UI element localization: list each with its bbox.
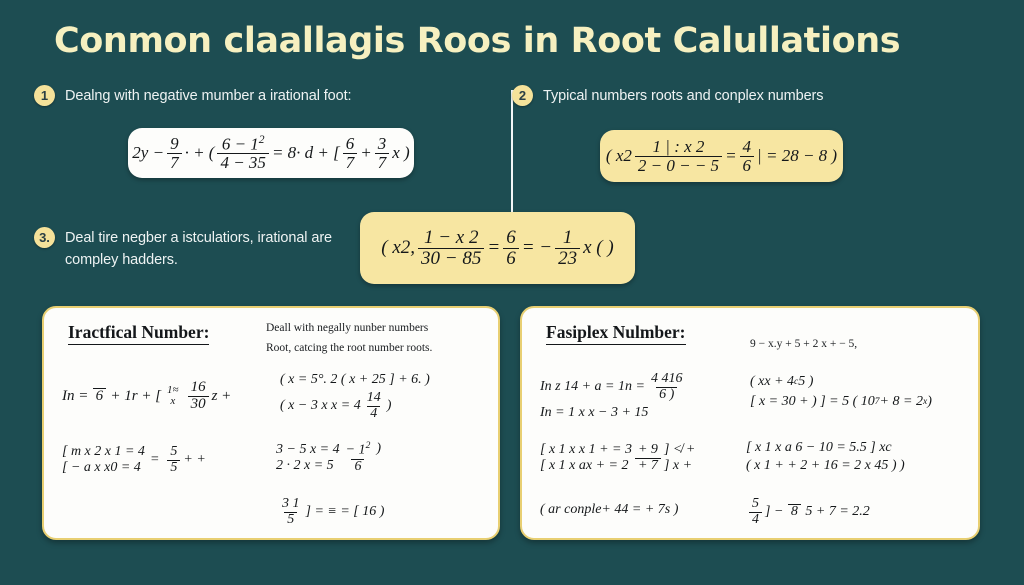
panel-left-cell-a1: In = 6 + 1r + [ 1≈ x 16 30 z + [62,380,231,413]
f3-frac-2-num: 6 [503,228,519,248]
f1-frac-1: 9 7 [167,135,182,172]
pr-a2-tails: ] ≮ + ] x + [664,442,695,474]
f1-tail: x ) [392,143,409,163]
f1-frac-2-num: 6 − 12 [219,134,268,154]
pl-a2-frac: 5 5 [167,445,180,475]
pl-a2-line-2: [ − a x x0 = 4 [62,460,145,476]
f1-mid-2: = 8· d + [ [272,143,340,163]
pl-b2-frac-num-text: − 1 [346,443,366,458]
pl-b1-frac-num: 14 [364,391,384,406]
step-label-3: Deal tire negber a istculatiors, iration… [65,227,344,272]
pl-a1-tail: z + [212,388,232,405]
pr-b3-frac-2: 8 [786,504,802,520]
formula-box-3: ( x2, 1 − x 2 30 − 85 = 6 6 = − 1 23 x (… [360,212,635,284]
pr-b3-frac-1-num: 5 [749,497,762,512]
f2-frac-1-den: 2 − 0 − − 5 [635,156,722,175]
panel-left-note: Deall with negally nunber numbers Root, … [266,318,476,358]
pl-b2-lines: 3 − 5 x = 4 2 · 2 x = 5 [276,442,340,474]
pr-a1-line-2-row: In = 1 x x − 3 + 15 [540,405,688,421]
panel-right-note: 9 − x.y + 5 + 2 x + − 5, [750,334,970,354]
f3-mid-1: = [487,237,500,259]
pr-b3-frac-1-den: 4 [749,512,762,528]
pl-a1-frac-1-den: 6 [93,388,107,405]
panel-left-cell-b1: ( x = 5°. 2 ( x + 25 ] + 6. ) ( x − 3 x … [280,372,430,421]
f2-tail: | = 28 − 8 ) [757,146,837,166]
f1-frac-1-den: 7 [167,153,182,172]
f2-frac-2-den: 6 [740,156,755,175]
panel-left-cell-a2: [ m x 2 x 1 = 4 [ − a x x0 = 4 = 5 5 + + [62,442,206,476]
pr-b1-line-1: ( xx + 4 [750,374,794,390]
panel-fasiplex-number: Fasiplex Nulmber: 9 − x.y + 5 + 2 x + − … [520,306,980,540]
f1-mid-1: · + ( [185,143,215,163]
step-item-1: 1 Dealng with negative mumber a irationa… [34,85,484,107]
pr-b3-mid: ] − [765,504,783,520]
pr-b2-line-1: [ x 1 x a 6 − 10 = 5.5 ] xc [746,440,905,456]
pl-a1-frac-1: 6 [91,388,107,405]
f3-frac-2: 6 6 [503,228,519,269]
panel-right-cell-a1: In z 14 + a = 1n = 4 416 6 ) In = 1 x x … [540,372,688,421]
pl-a2-frac-den: 5 [167,460,180,476]
step-item-3: 3. Deal tire negber a istculatiors, irat… [34,227,344,272]
panel-right-cell-b3: 5 4 ] − 8 5 + 7 = 2.2 [746,494,870,527]
page-title: Conmon claallagis Roos in Root Calullati… [54,21,984,61]
pl-b2-frac-num: − 12 [343,441,374,458]
f2-lead: ( x2 [606,146,632,166]
f1-frac-2: 6 − 12 4 − 35 [217,134,268,172]
step-badge-2: 2 [512,85,533,106]
f2-frac-1-num: 1 | : x 2 [650,138,708,156]
panel-iractfical-number: Iractfical Number: Deall with negally nu… [42,306,500,540]
pr-b1-line-1-tail: 5 ) [798,374,813,390]
pr-a1-frac-num: 4 416 [648,372,686,387]
f1-frac-2-num-sup: 2 [259,133,265,146]
f1-frac-3-num: 6 [343,135,358,153]
pl-b2-frac: − 12 6 [343,441,374,474]
formula-1-expression: 2y − 9 7 · + ( 6 − 12 4 − 35 = 8· d + [ … [132,134,409,172]
panel-right-cell-b1: ( xx + 4c5 ) [ x = 30 + ) ] = 5 ( 107+ 8… [750,374,932,410]
f3-frac-1-num: 1 − x 2 [421,228,482,248]
pr-b1-line-2-row: [ x = 30 + ) ] = 5 ( 107+ 8 = 2x) [750,394,932,410]
pr-a2-line-1: [ x 1 x x 1 + = 3 [540,442,632,458]
step-label-2: Typical numbers roots and conplex number… [543,85,823,107]
f1-frac-4: 3 7 [375,135,390,172]
f1-frac-4-den: 7 [375,153,390,172]
f1-frac-2-num-text: 6 − 1 [222,134,259,153]
pr-a1-lead: In z 14 + a = 1n = [540,379,645,395]
f1-frac-3: 6 7 [343,135,358,172]
pl-a2-frac-num: 5 [167,445,180,460]
f2-frac-1: 1 | : x 2 2 − 0 − − 5 [635,138,722,175]
pl-b1-line-2-lead: ( x − 3 x x = 4 [280,398,361,414]
pr-b2-line-2: ( x 1 + + 2 + 16 = 2 x 45 ) ) [746,458,905,474]
f3-frac-3-num: 1 [560,228,576,248]
pl-b2-line-2: 2 · 2 x = 5 [276,458,340,474]
panel-left-note-line-1: Deall with negally nunber numbers [266,318,476,338]
step-item-2: 2 Typical numbers roots and conplex numb… [512,85,982,107]
formula-box-1: 2y − 9 7 · + ( 6 − 12 4 − 35 = 8· d + [ … [128,128,414,178]
pr-b3-tail: 5 + 7 = 2.2 [805,504,869,520]
pl-a1-lead: In = [62,388,88,405]
pr-a2-line-2: [ x 1 x ax + = 2 [540,458,632,474]
f1-lead: 2y − [132,143,164,163]
step-badge-3: 3. [34,227,55,248]
step-badge-1: 1 [34,85,55,106]
f3-lead: ( x2, [381,237,415,259]
pl-a2-line-1: [ m x 2 x 1 = 4 [62,444,145,460]
pr-b1-line-1-row: ( xx + 4c5 ) [750,374,932,390]
f3-frac-3-den: 23 [555,248,580,269]
pl-b3-frac: 3 1 5 [279,497,303,527]
step-label-1: Dealng with negative mumber a irational … [65,85,351,107]
pl-b1-line-1: ( x = 5°. 2 ( x + 25 ] + 6. ) [280,372,430,388]
pr-a1-line-2: In = 1 x x − 3 + 15 [540,405,648,421]
pr-b3-frac-2-den: 8 [788,504,801,520]
pr-a1-frac: 4 416 6 ) [648,372,686,402]
f1-frac-3-den: 7 [343,153,358,172]
pr-a2-lines: [ x 1 x x 1 + = 3 [ x 1 x ax + = 2 [540,442,632,474]
panel-right-note-line-1: 9 − x.y + 5 + 2 x + − 5, [750,334,970,354]
connector-vertical [511,90,513,214]
f3-tail: x ( ) [583,237,614,259]
pl-b1-frac-den: 4 [367,406,380,422]
f3-frac-3: 1 23 [555,228,580,269]
panel-left-cell-b3: 3 1 5 ] = ≡ = [ 16 ) [276,494,384,527]
f3-frac-2-den: 6 [503,248,519,269]
pr-a1-frac-den: 6 ) [656,387,677,403]
panel-left-cell-b2: 3 − 5 x = 4 2 · 2 x = 5 − 12 6 ) [276,440,381,475]
pl-a1-frac-3: 16 30 [188,380,209,413]
pl-b2-line-1: 3 − 5 x = 4 [276,442,340,458]
pr-a2-frac-num: + 9 [635,443,661,458]
pl-a1-frac-2-den: x [167,396,178,408]
pl-a1-mid: + 1r + [ [110,388,161,405]
pr-a3-line: ( ar conple+ 44 = + 7s ) [540,502,678,518]
f1-mid-3: + [360,143,371,163]
f1-frac-4-num: 3 [375,135,390,153]
f1-frac-1-num: 9 [167,135,182,153]
pl-b3-frac-num: 3 1 [279,497,303,512]
pr-b1-line-2: [ x = 30 + ) ] = 5 ( 10 [750,394,875,410]
pr-a2-tail-1: ] ≮ + [664,442,695,458]
pr-b1-line-2-tail: ) [927,394,932,410]
pl-b1-frac: 14 4 [364,391,384,421]
pl-b2-frac-den: 6 [351,459,364,475]
pl-a1-frac-2: 1≈ x [164,385,182,408]
pl-b3-tail: ] = ≡ = [ 16 ) [306,504,385,520]
panel-right-cell-b2: [ x 1 x a 6 − 10 = 5.5 ] xc ( x 1 + + 2 … [746,440,905,474]
panel-left-title: Iractfical Number: [68,322,209,345]
f3-frac-1: 1 − x 2 30 − 85 [418,228,484,269]
formula-box-2: ( x2 1 | : x 2 2 − 0 − − 5 = 4 6 | = 28 … [600,130,843,182]
pl-a2-eq: = [150,452,159,468]
pr-b1-line-2-mid: + 8 = 2 [880,394,923,410]
pr-a2-frac: + 9 + 7 [635,443,661,473]
panel-left-note-line-2: Root, catcing the root number roots. [266,338,476,358]
f2-mid-1: = [725,146,736,166]
panel-right-cell-a2: [ x 1 x x 1 + = 3 [ x 1 x ax + = 2 + 9 +… [540,440,695,474]
pr-a1-line-1-row: In z 14 + a = 1n = 4 416 6 ) [540,372,688,402]
pl-a2-tail: + + [183,452,205,468]
panel-right-title: Fasiplex Nulmber: [546,322,686,345]
formula-2-expression: ( x2 1 | : x 2 2 − 0 − − 5 = 4 6 | = 28 … [606,138,837,175]
f2-frac-2-num: 4 [740,138,755,156]
pl-a1-frac-3-num: 16 [188,380,209,396]
pl-a2-lines: [ m x 2 x 1 = 4 [ − a x x0 = 4 [62,444,145,476]
pl-b3-frac-den: 5 [284,512,297,528]
pr-b3-frac-1: 5 4 [749,497,762,527]
pl-b1-line-2-tail: ) [387,398,392,414]
panel-right-cell-a3: ( ar conple+ 44 = + 7s ) [540,500,678,518]
formula-3-expression: ( x2, 1 − x 2 30 − 85 = 6 6 = − 1 23 x (… [381,228,613,269]
pr-a2-tail-2: ] x + [664,458,695,474]
pl-a1-frac-3-den: 30 [188,396,209,413]
pr-a2-frac-den: + 7 [635,458,661,474]
pl-b2-frac-num-sup: 2 [366,441,371,451]
f2-frac-2: 4 6 [740,138,755,175]
pl-b1-line-2-row: ( x − 3 x x = 4 14 4 ) [280,391,430,421]
pl-b2-paren: ) [376,441,381,457]
infographic-canvas: Conmon claallagis Roos in Root Calullati… [0,0,1024,585]
f1-frac-2-den: 4 − 35 [217,153,268,172]
f3-mid-2: = − [522,237,552,259]
f3-frac-1-den: 30 − 85 [418,248,484,269]
pl-b1-line-1-row: ( x = 5°. 2 ( x + 25 ] + 6. ) [280,372,430,388]
